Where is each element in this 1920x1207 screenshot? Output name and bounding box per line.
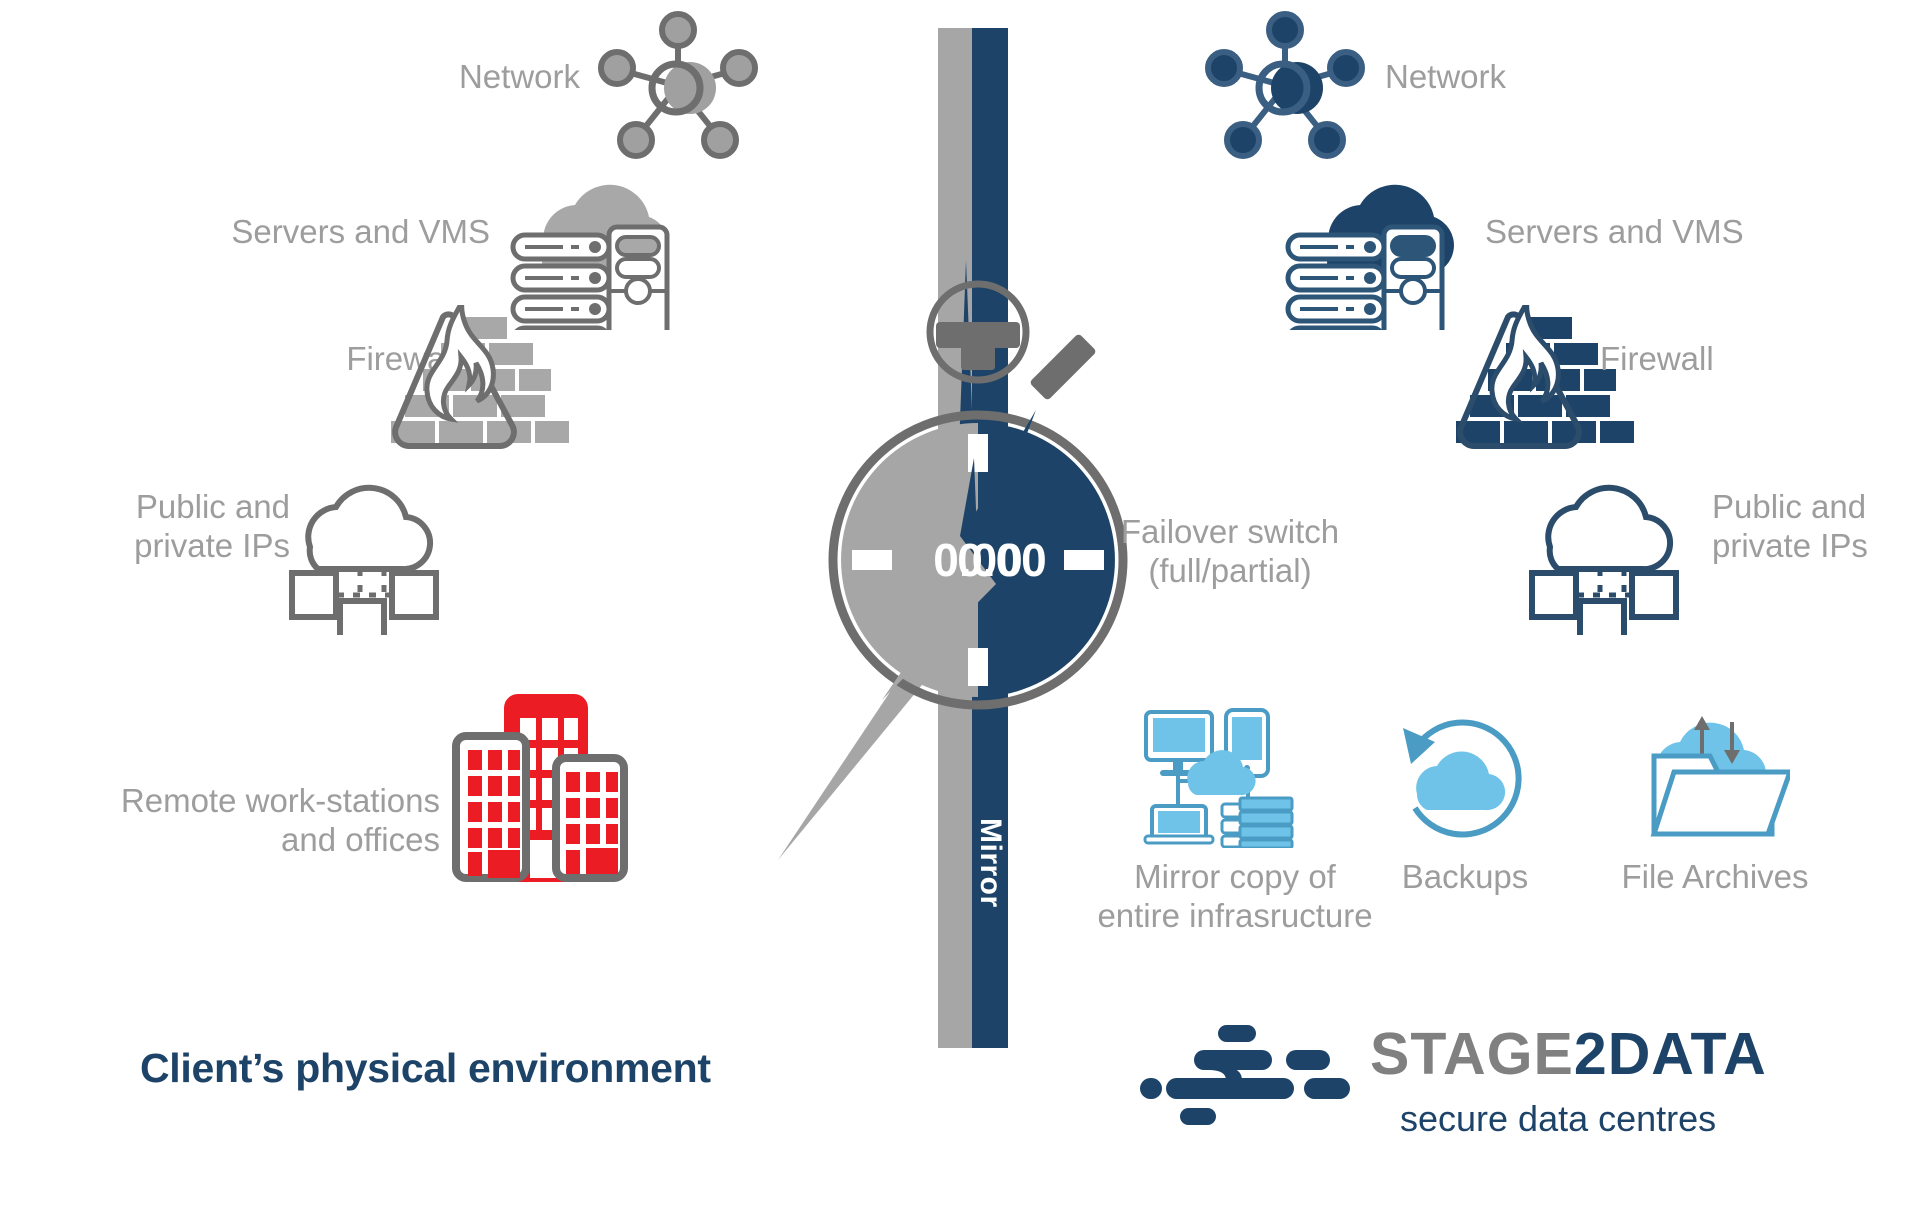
svg-text:0.00: 0.00	[933, 534, 1023, 586]
left-label-public-private-ips: Public and private IPs	[60, 488, 290, 566]
service-label-backups: Backups	[1390, 858, 1540, 897]
logo-word-2data: 2DATA	[1574, 1021, 1767, 1087]
cloud-ip-nodes-icon-right	[1528, 455, 1708, 635]
page-title: Client’s physical environment	[140, 1045, 840, 1092]
logo-tagline: secure data centres	[1400, 1098, 1716, 1140]
failover-switch-label: Failover switch (full/partial)	[1100, 513, 1360, 591]
right-label-firewall: Firewall	[1600, 340, 1860, 379]
logo-word-stage: STAGE	[1370, 1021, 1574, 1087]
service-label-file-archives: File Archives	[1600, 858, 1830, 897]
servers-cloud-icon-right	[1280, 155, 1460, 330]
cloud-folder-archive-icon	[1640, 700, 1790, 850]
service-label-mirror-copy: Mirror copy of entire infrasructure	[1090, 858, 1380, 936]
servers-cloud-icon	[505, 155, 685, 330]
network-hub-icon-right	[1205, 8, 1365, 168]
cloud-ip-nodes-icon	[288, 455, 468, 635]
left-label-remote-offices: Remote work-stations and offices	[50, 782, 440, 860]
network-hub-icon	[598, 8, 758, 168]
office-buildings-icon	[450, 690, 630, 885]
firewall-brick-flame-icon	[385, 305, 575, 455]
logo-wordmark: STAGE2DATA	[1370, 1020, 1767, 1088]
right-label-network: Network	[1385, 58, 1665, 97]
left-label-network: Network	[300, 58, 580, 97]
firewall-brick-flame-icon-right	[1450, 305, 1640, 455]
stage2data-logo-mark	[1140, 1022, 1355, 1142]
left-label-servers: Servers and VMS	[170, 213, 490, 252]
stage2data-logo: STAGE2DATA secure data centres	[1140, 1020, 1880, 1170]
diagram-canvas: Network Servers and VMS	[0, 0, 1920, 1207]
right-label-servers: Servers and VMS	[1485, 213, 1825, 252]
mirror-devices-cloud-icon	[1140, 708, 1330, 848]
right-label-public-private-ips: Public and private IPs	[1712, 488, 1920, 566]
backup-cloud-refresh-icon	[1395, 708, 1535, 848]
